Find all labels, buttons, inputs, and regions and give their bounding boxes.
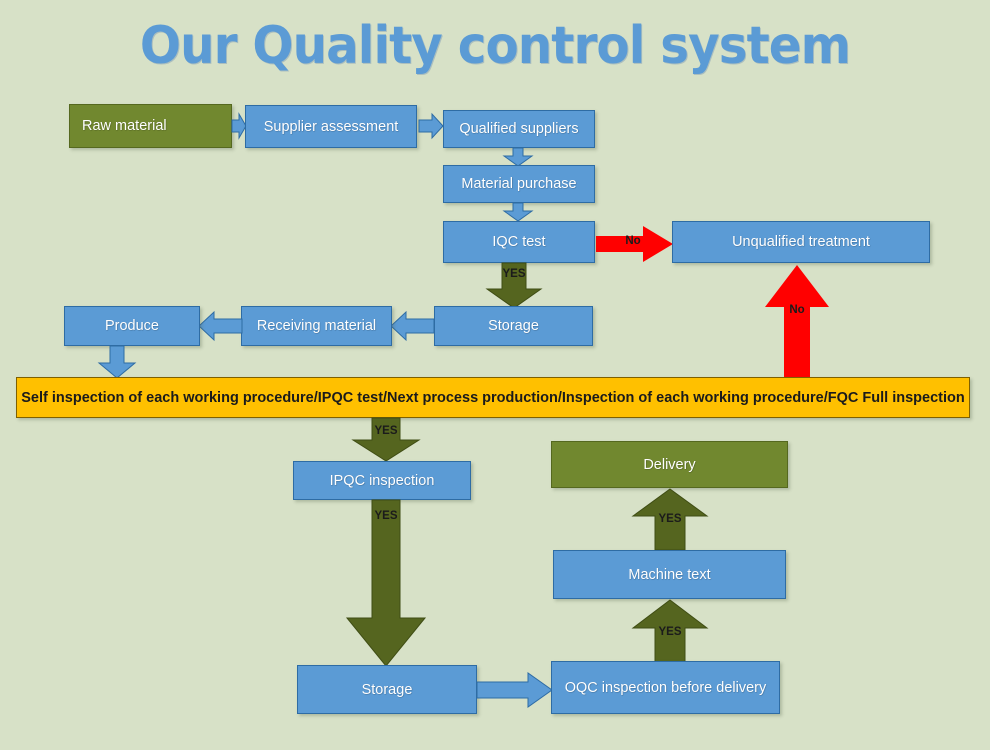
- node-material-purchase[interactable]: Material purchase: [443, 165, 595, 203]
- node-material-purchase-label: Material purchase: [461, 176, 576, 192]
- arrow-raw-material-to-supplier: [232, 112, 246, 140]
- arrow-banner-yes-to-ipqc: [352, 418, 420, 462]
- node-oqc-inspection[interactable]: OQC inspection before delivery: [551, 661, 780, 714]
- arrow-oqc-yes-to-machine: [632, 600, 708, 665]
- node-produce[interactable]: Produce: [64, 306, 200, 346]
- node-unqualified-treatment[interactable]: Unqualified treatment: [672, 221, 930, 263]
- arrow-iqc-yes-to-storage: [486, 263, 542, 309]
- node-machine-text[interactable]: Machine text: [553, 550, 786, 599]
- arrow-supplier-to-qualified: [419, 113, 443, 139]
- node-storage-bottom[interactable]: Storage: [297, 665, 477, 714]
- node-delivery-label: Delivery: [643, 457, 695, 473]
- node-storage-top[interactable]: Storage: [434, 306, 593, 346]
- node-raw-material[interactable]: Raw material: [69, 104, 232, 148]
- node-storage-bottom-label: Storage: [362, 682, 413, 698]
- arrow-machine-yes-to-delivery: [632, 489, 708, 551]
- node-supplier-assessment-label: Supplier assessment: [264, 119, 399, 135]
- node-supplier-assessment[interactable]: Supplier assessment: [245, 105, 417, 148]
- node-iqc-test-label: IQC test: [492, 234, 545, 250]
- flowchart-canvas: Our Quality control system Raw material …: [0, 0, 990, 750]
- node-produce-label: Produce: [105, 318, 159, 334]
- node-storage-top-label: Storage: [488, 318, 539, 334]
- node-inspection-banner-label: Self inspection of each working procedur…: [21, 390, 964, 406]
- node-machine-text-label: Machine text: [628, 567, 710, 583]
- arrow-ipqc-yes-to-storage-bottom: [346, 500, 426, 667]
- arrow-banner-no-to-unqualified: [764, 265, 830, 379]
- node-inspection-banner[interactable]: Self inspection of each working procedur…: [16, 377, 970, 418]
- arrow-receiving-to-produce: [199, 311, 243, 341]
- node-oqc-inspection-label: OQC inspection before delivery: [565, 680, 767, 696]
- node-qualified-suppliers[interactable]: Qualified suppliers: [443, 110, 595, 148]
- arrow-iqc-no-to-unqualified: [596, 225, 674, 263]
- node-raw-material-label: Raw material: [82, 118, 167, 134]
- node-receiving-material[interactable]: Receiving material: [241, 306, 392, 346]
- node-iqc-test[interactable]: IQC test: [443, 221, 595, 263]
- node-ipqc-inspection[interactable]: IPQC inspection: [293, 461, 471, 500]
- node-ipqc-inspection-label: IPQC inspection: [330, 473, 435, 489]
- arrow-produce-to-banner: [97, 346, 137, 379]
- node-qualified-suppliers-label: Qualified suppliers: [459, 121, 578, 137]
- node-unqualified-treatment-label: Unqualified treatment: [732, 234, 870, 250]
- node-delivery[interactable]: Delivery: [551, 441, 788, 488]
- page-title: Our Quality control system: [35, 16, 956, 76]
- arrow-storage-to-receiving: [391, 311, 435, 341]
- node-receiving-material-label: Receiving material: [257, 318, 376, 334]
- arrow-material-purchase-to-iqc: [503, 203, 533, 221]
- arrow-storage-bottom-to-oqc: [477, 672, 553, 708]
- arrow-qualified-to-material-purchase: [503, 148, 533, 166]
